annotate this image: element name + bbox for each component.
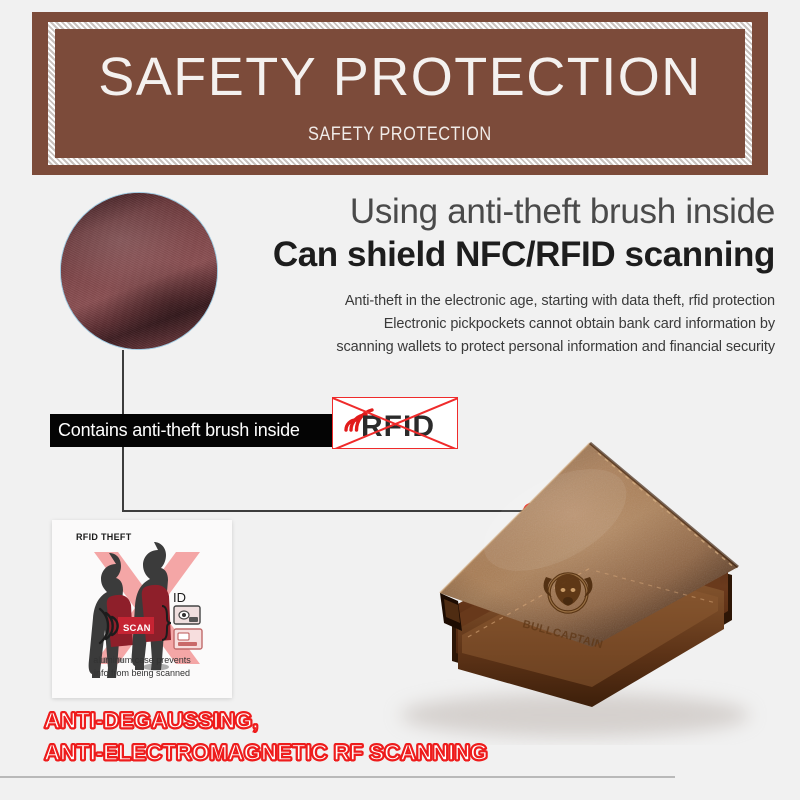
headline-secondary: Can shield NFC/RFID scanning	[250, 234, 775, 276]
headline-primary: Using anti-theft brush inside	[250, 192, 775, 232]
anti-theft-label-bar: Contains anti-theft brush inside	[50, 414, 332, 447]
headline-block: Using anti-theft brush inside Can shield…	[250, 192, 775, 359]
infographic-page: SAFETY PROTECTION SAFETY PROTECTION Usin…	[0, 0, 800, 800]
header-banner: SAFETY PROTECTION SAFETY PROTECTION	[32, 12, 768, 175]
wallet-product-photo: BULLCAPTAIN	[340, 415, 800, 745]
bottom-callout: ANTI-DEGAUSSING, ANTI-ELECTROMAGNETIC RF…	[44, 705, 584, 769]
bottom-divider	[0, 776, 675, 778]
theft-card-id-label: ID	[173, 590, 186, 605]
caption-line-1: aluminum case prevents	[52, 654, 232, 667]
theft-card-caption: aluminum case prevents info from being s…	[52, 654, 232, 680]
theft-card-title: RFID THEFT	[76, 532, 132, 542]
fabric-closeup-circle	[60, 192, 218, 350]
headline-description: Anti-theft in the electronic age, starti…	[250, 290, 775, 359]
fabric-shading-overlay	[61, 193, 217, 349]
page-subtitle: SAFETY PROTECTION	[308, 124, 492, 146]
rfid-theft-info-card: RFID THEFT ID SCAN aluminum case prevent…	[52, 520, 232, 698]
description-line-1: Anti-theft in the electronic age, starti…	[250, 290, 775, 313]
bottom-callout-line-2: ANTI-ELECTROMAGNETIC RF SCANNING	[44, 737, 584, 769]
header-text-group: SAFETY PROTECTION SAFETY PROTECTION	[32, 12, 768, 175]
bottom-callout-line-1: ANTI-DEGAUSSING,	[44, 705, 584, 737]
theft-card-scan-label: SCAN	[123, 623, 151, 634]
description-line-3: scanning wallets to protect personal inf…	[250, 336, 775, 359]
id-card-icons	[174, 606, 202, 649]
anti-theft-label-text: Contains anti-theft brush inside	[58, 420, 300, 441]
caption-line-2: info from being scanned	[52, 667, 232, 680]
description-line-2: Electronic pickpockets cannot obtain ban…	[250, 313, 775, 336]
page-title: SAFETY PROTECTION	[98, 50, 702, 104]
